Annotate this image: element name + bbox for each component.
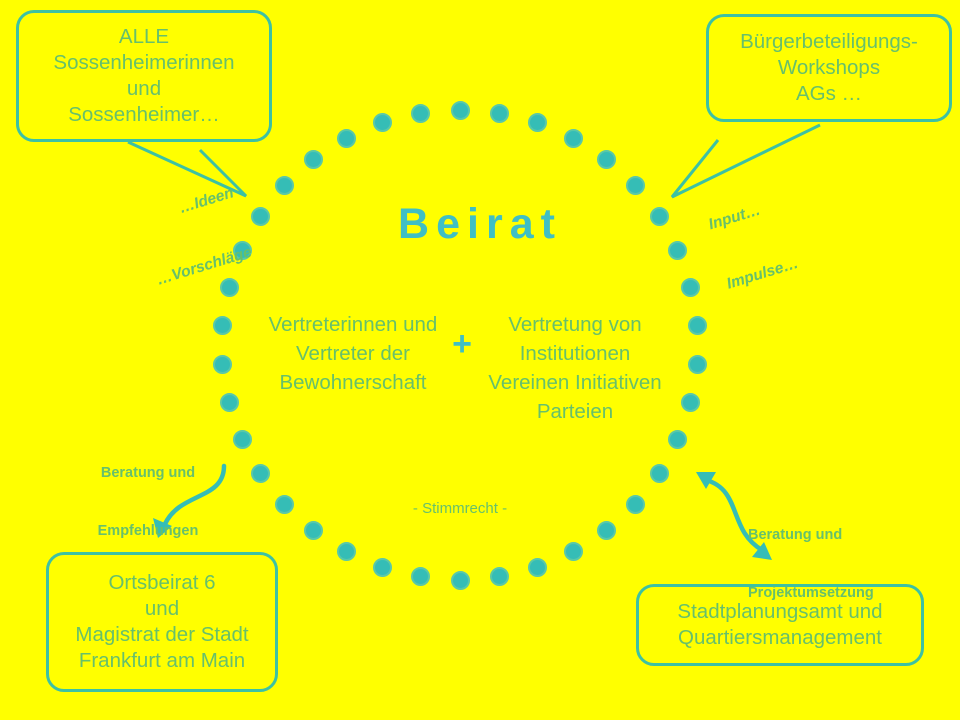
tail-label-line: …Vorschläge [154,242,254,291]
center-left-line: Bewohnerschaft [279,371,426,394]
center-right-line: Initiativen [575,371,662,394]
ring-dot [564,542,583,561]
center-right-line: von [609,313,642,336]
ring-dot [337,129,356,148]
arrow-label-beratung-projektumsetzung: Beratung und Projektumsetzung [748,488,913,641]
ring-dot [337,542,356,561]
ring-dot [668,430,687,449]
bubble-line: AGs … [796,81,862,107]
bubble-all-citizens: ALLE Sossenheimerinnen und Sossenheimer… [16,10,272,142]
ring-dot [688,316,707,335]
center-right-column: Vertretung von Institutionen Vereinen In… [480,310,670,426]
bubble-line: Bürgerbeteiligungs- [740,29,918,55]
plus-icon: + [440,325,484,364]
ring-dot [275,176,294,195]
ring-dot [490,567,509,586]
ring-dot [597,150,616,169]
bubble-line: Sossenheimerinnen [53,50,234,76]
center-left-line: der [380,342,410,365]
ring-dot [681,393,700,412]
box-line: Frankfurt am Main [79,648,245,674]
ring-dot [528,558,547,577]
center-right-line: Vereinen [488,371,569,394]
ring-dot [373,558,392,577]
ring-dot [451,101,470,120]
ring-dot [251,464,270,483]
box-line: Magistrat der Stadt [75,622,248,648]
arrow-label-beratung-empfehlungen: Beratung und Empfehlungen [78,426,218,579]
voting-note: - Stimmrecht - [330,500,590,517]
box-line: und [145,596,179,622]
ring-dot [451,571,470,590]
ring-dot [220,393,239,412]
ring-dot [233,430,252,449]
bubble-line: ALLE [119,24,169,50]
arrow-label-line: Empfehlungen [78,522,218,541]
center-right-line: Institutionen [520,342,631,365]
bubble-line: und [127,76,161,102]
arrow-label-line: Beratung und [748,526,913,545]
ring-dot [650,464,669,483]
ring-dot [373,113,392,132]
ring-dot [411,104,430,123]
center-right-line: Parteien [537,400,613,423]
bubble-line: Workshops [778,55,880,81]
ring-dot [681,278,700,297]
ring-dot [688,355,707,374]
ring-dot [213,355,232,374]
ring-dot [597,521,616,540]
tail-label-line: Input… [706,194,783,236]
ring-dot [564,129,583,148]
tail-label-line: Impulse… [724,254,801,296]
bubble-line: Sossenheimer… [68,102,220,128]
center-right-line: Vertretung [508,313,603,336]
ring-dot [275,495,294,514]
diagram-canvas: Beirat Vertreterinnen und Vertreter der … [0,0,960,720]
ring-dot [490,104,509,123]
center-left-line: Vertreterinnen [269,313,398,336]
arrow-label-line: Beratung und [78,464,218,483]
ring-dot [213,316,232,335]
ring-dot [528,113,547,132]
ring-dot [626,495,645,514]
arrow-label-line: Projektumsetzung [748,584,913,603]
tail-label-line: …Ideen [136,183,236,232]
ring-dot [304,521,323,540]
ring-dot [411,567,430,586]
ring-dot [304,150,323,169]
ring-dot [626,176,645,195]
center-left-column: Vertreterinnen und Vertreter der Bewohne… [258,310,448,397]
bubble-workshops: Bürgerbeteiligungs- Workshops AGs … [706,14,952,122]
